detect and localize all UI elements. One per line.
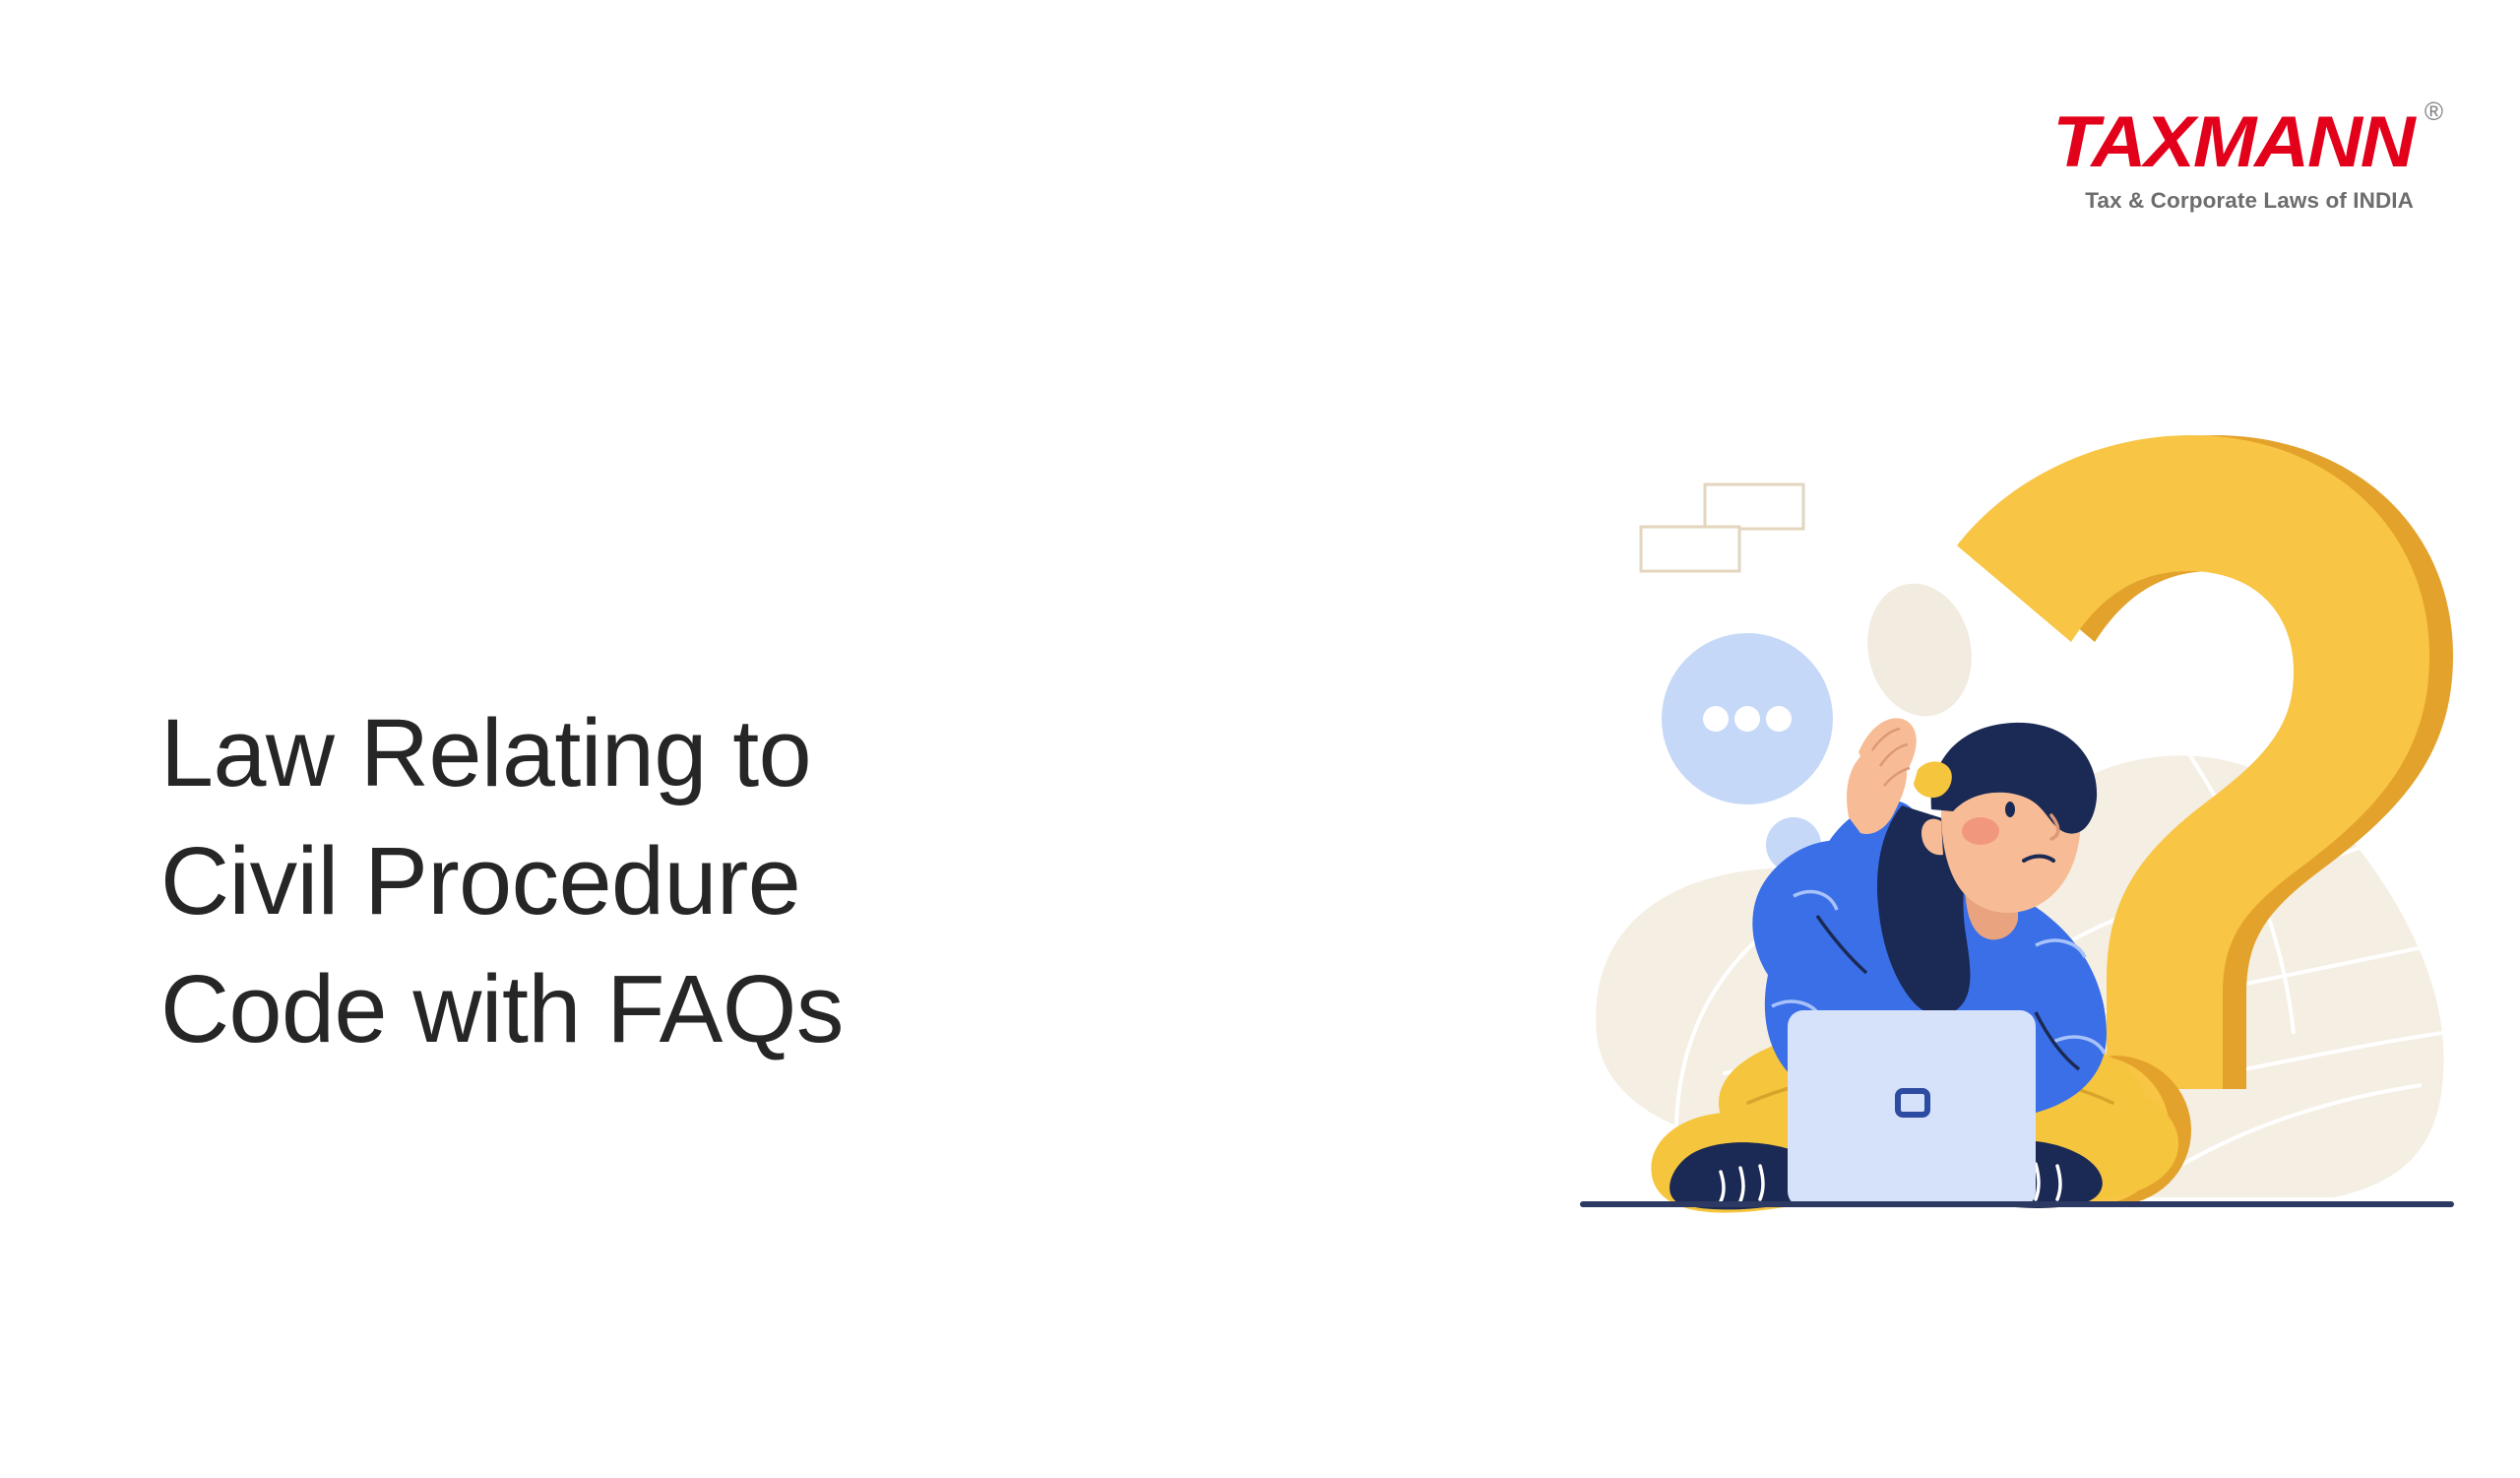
logo-wordmark: TAXMANN [2053, 106, 2414, 178]
registered-trademark-icon: ® [2425, 98, 2443, 124]
page-title-line-2: Civil Procedure [160, 817, 1322, 945]
laptop [1788, 1010, 2036, 1207]
thought-bubble-dot-3 [1766, 706, 1792, 732]
page-title: Law Relating to Civil Procedure Code wit… [160, 689, 1322, 1073]
outlined-rectangles [1641, 484, 1803, 571]
cheek-blush [1962, 817, 1999, 845]
eye-left [2005, 802, 2015, 817]
outlined-rectangle-top [1705, 484, 1803, 529]
outlined-rectangle-bottom [1641, 527, 1739, 571]
thought-bubble-dot-2 [1734, 706, 1760, 732]
thought-bubble-dot-1 [1703, 706, 1729, 732]
logo-tagline: Tax & Corporate Laws of INDIA [2073, 190, 2414, 213]
slide-canvas: TAXMANN ® Tax & Corporate Laws of INDIA … [0, 0, 2520, 1478]
taxmann-logo: TAXMANN ® Tax & Corporate Laws of INDIA [2073, 106, 2414, 213]
eye-right [2050, 800, 2060, 815]
illustration-svg [1536, 423, 2500, 1241]
laptop-lid [1788, 1010, 2036, 1207]
background-blob-small [1856, 574, 1984, 727]
hero-illustration [1536, 423, 2500, 1241]
page-title-line-1: Law Relating to [160, 689, 1322, 817]
page-title-line-3: Code with FAQs [160, 945, 1322, 1073]
logo-wordmark-wrap: TAXMANN ® [2073, 106, 2414, 178]
